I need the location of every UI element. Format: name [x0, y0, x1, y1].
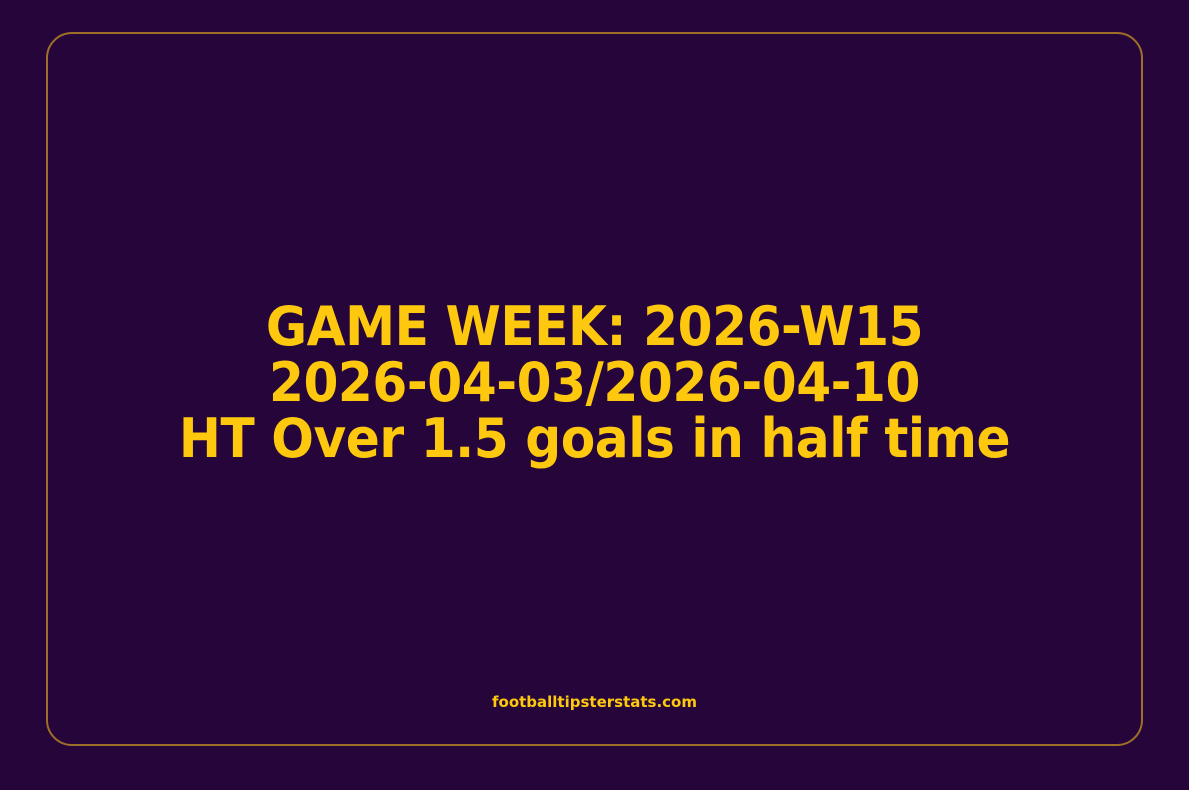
headline-line-market: HT Over 1.5 goals in half time: [84, 411, 1104, 467]
headline-block: GAME WEEK: 2026-W15 2026-04-03/2026-04-1…: [46, 299, 1143, 467]
poster-canvas: GAME WEEK: 2026-W15 2026-04-03/2026-04-1…: [0, 0, 1189, 790]
headline-line-game-week: GAME WEEK: 2026-W15: [84, 299, 1104, 355]
site-url-label: footballtipsterstats.com: [492, 693, 697, 711]
headline-line-date-range: 2026-04-03/2026-04-10: [84, 355, 1104, 411]
site-footer: footballtipsterstats.com: [46, 692, 1143, 711]
